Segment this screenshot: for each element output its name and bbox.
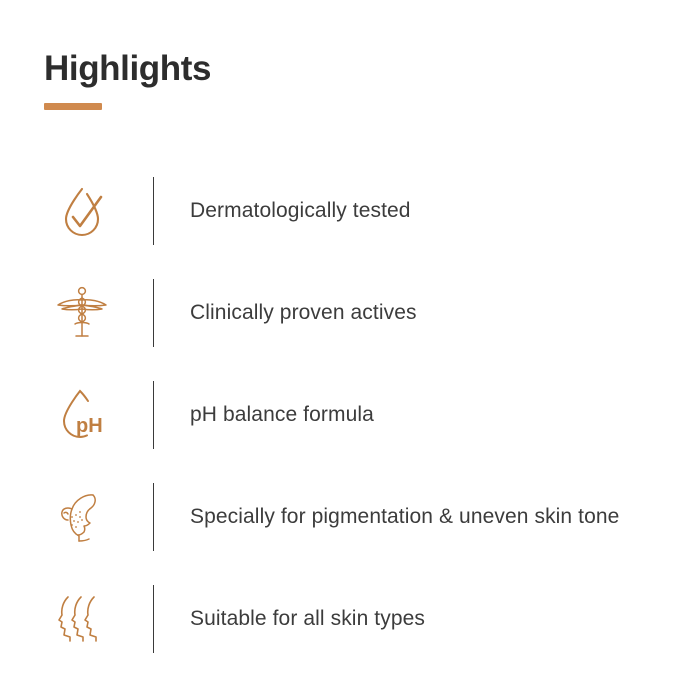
row-divider bbox=[153, 279, 154, 347]
droplet-check-icon bbox=[44, 183, 120, 239]
caduceus-icon bbox=[44, 284, 120, 342]
title-accent-bar bbox=[44, 103, 102, 110]
list-item-label: pH balance formula bbox=[190, 401, 374, 430]
list-item: Clinically proven actives bbox=[44, 262, 656, 364]
list-item-label-text: pH balance formula bbox=[190, 403, 374, 426]
list-item: Suitable for all skin types bbox=[44, 568, 656, 670]
ph-icon-text: pH bbox=[76, 415, 103, 437]
row-divider bbox=[153, 177, 154, 245]
highlights-card: Highlights Dermatologically tested bbox=[0, 0, 700, 700]
three-faces-icon bbox=[44, 591, 120, 647]
droplet-ph-icon: pH bbox=[44, 387, 120, 443]
list-item: Dermatologically tested bbox=[44, 160, 656, 262]
header: Highlights bbox=[44, 50, 211, 110]
list-item-label: Suitable for all skin types bbox=[190, 605, 425, 634]
highlight-list: Dermatologically tested Clini bbox=[44, 160, 656, 670]
row-divider bbox=[153, 483, 154, 551]
list-item-label: Clinically proven actives bbox=[190, 299, 417, 328]
face-pigmentation-icon bbox=[44, 489, 120, 545]
row-divider bbox=[153, 585, 154, 653]
list-item-label: Dermatologically tested bbox=[190, 197, 411, 226]
list-item: pH pH balance formula bbox=[44, 364, 656, 466]
row-divider bbox=[153, 381, 154, 449]
page-title: Highlights bbox=[44, 50, 211, 89]
list-item-label: Specially for pigmentation & uneven skin… bbox=[190, 503, 619, 532]
list-item: Specially for pigmentation & uneven skin… bbox=[44, 466, 656, 568]
